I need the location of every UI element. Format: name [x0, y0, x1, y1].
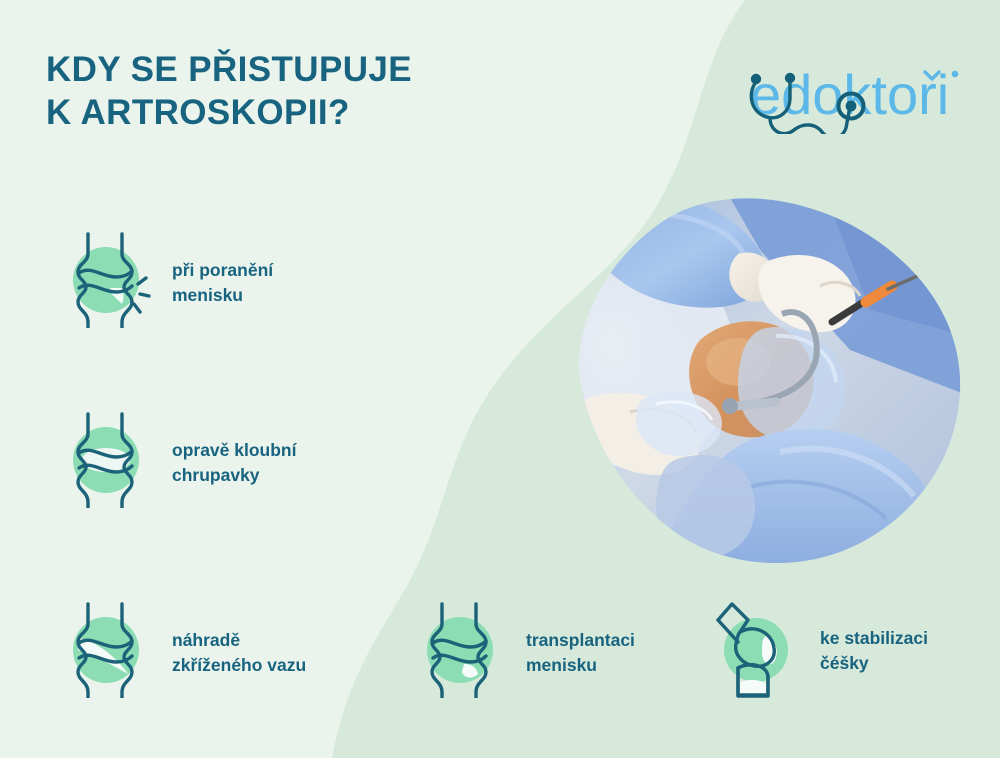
- list-item[interactable]: náhradě zkříženého vazu: [66, 602, 306, 703]
- list-item-label: ke stabilizaci čéšky: [820, 626, 928, 676]
- i-dot-icon: [952, 71, 959, 78]
- brand-logo[interactable]: edoktori: [742, 62, 964, 134]
- surgery-photo: [570, 190, 968, 570]
- knee-joint-cartilage-icon: [66, 412, 152, 513]
- list-item-label: náhradě zkříženého vazu: [172, 628, 306, 678]
- infographic-canvas: KDY SE PŘISTUPUJE K ARTROSKOPII? edoktor…: [0, 0, 1000, 758]
- list-item-label: opravě kloubní chrupavky: [172, 438, 296, 488]
- knee-patella-side-icon: [710, 598, 802, 703]
- knee-joint-ligament-icon: [66, 602, 152, 703]
- knee-joint-meniscus-icon: [420, 602, 506, 703]
- list-item[interactable]: opravě kloubní chrupavky: [66, 412, 296, 513]
- list-item[interactable]: při poranění menisku: [66, 232, 273, 333]
- page-title: KDY SE PŘISTUPUJE K ARTROSKOPII?: [46, 48, 412, 134]
- list-item[interactable]: ke stabilizaci čéšky: [710, 598, 928, 703]
- list-item[interactable]: transplantaci menisku: [420, 602, 635, 703]
- knee-joint-injury-icon: [66, 232, 152, 333]
- photo-content: [570, 190, 968, 570]
- list-item-label: transplantaci menisku: [526, 628, 635, 678]
- list-item-label: při poranění menisku: [172, 258, 273, 308]
